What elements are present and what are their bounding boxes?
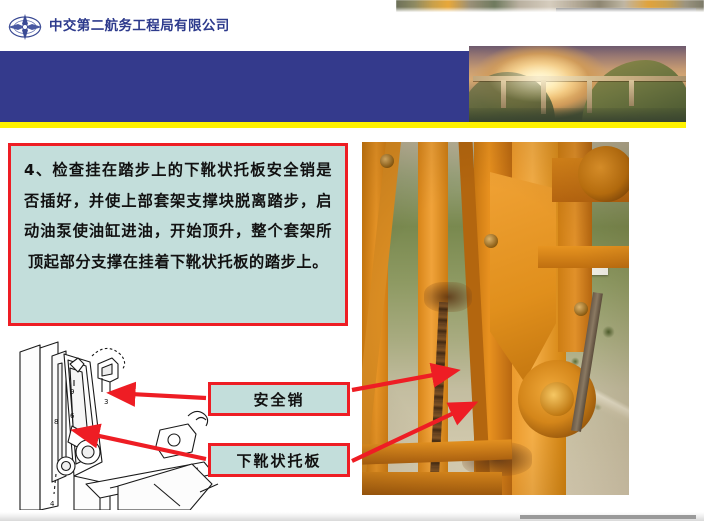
banner-ground: [469, 108, 686, 122]
top-partial-image-strip: [396, 0, 704, 13]
bottom-strip: [0, 512, 704, 521]
bottom-strip-dark-bar: [520, 515, 696, 519]
svg-text:3: 3: [104, 398, 108, 406]
instruction-text: 4、检查挂在踏步上的下靴状托板安全销是否插好，并使上部套架支撑块脱离踏步，启动油…: [24, 155, 332, 277]
svg-text:8: 8: [54, 418, 58, 426]
bracket-line-drawing: 3 9 8 6 4: [14, 334, 219, 510]
company-name: 中交第二航务工程局有限公司: [49, 20, 230, 34]
callout-safety-pin[interactable]: 安全销: [208, 382, 350, 416]
svg-text:9: 9: [70, 388, 74, 396]
top-strip-fade: [396, 7, 704, 13]
photo-vignette: [362, 142, 629, 495]
svg-text:6: 6: [70, 412, 75, 420]
banner-bridge-photo: [469, 46, 686, 122]
brand-header: 中交第二航务工程局有限公司: [8, 14, 230, 40]
callout-boot-support-plate[interactable]: 下靴状托板: [208, 443, 350, 477]
svg-text:4: 4: [50, 500, 55, 508]
compass-rose-logo-icon: [8, 14, 42, 40]
formwork-photo: [362, 142, 629, 495]
accent-rule: [0, 122, 686, 128]
instruction-text-box: 4、检查挂在踏步上的下靴状托板安全销是否插好，并使上部套架支撑块脱离踏步，启动油…: [8, 143, 348, 326]
